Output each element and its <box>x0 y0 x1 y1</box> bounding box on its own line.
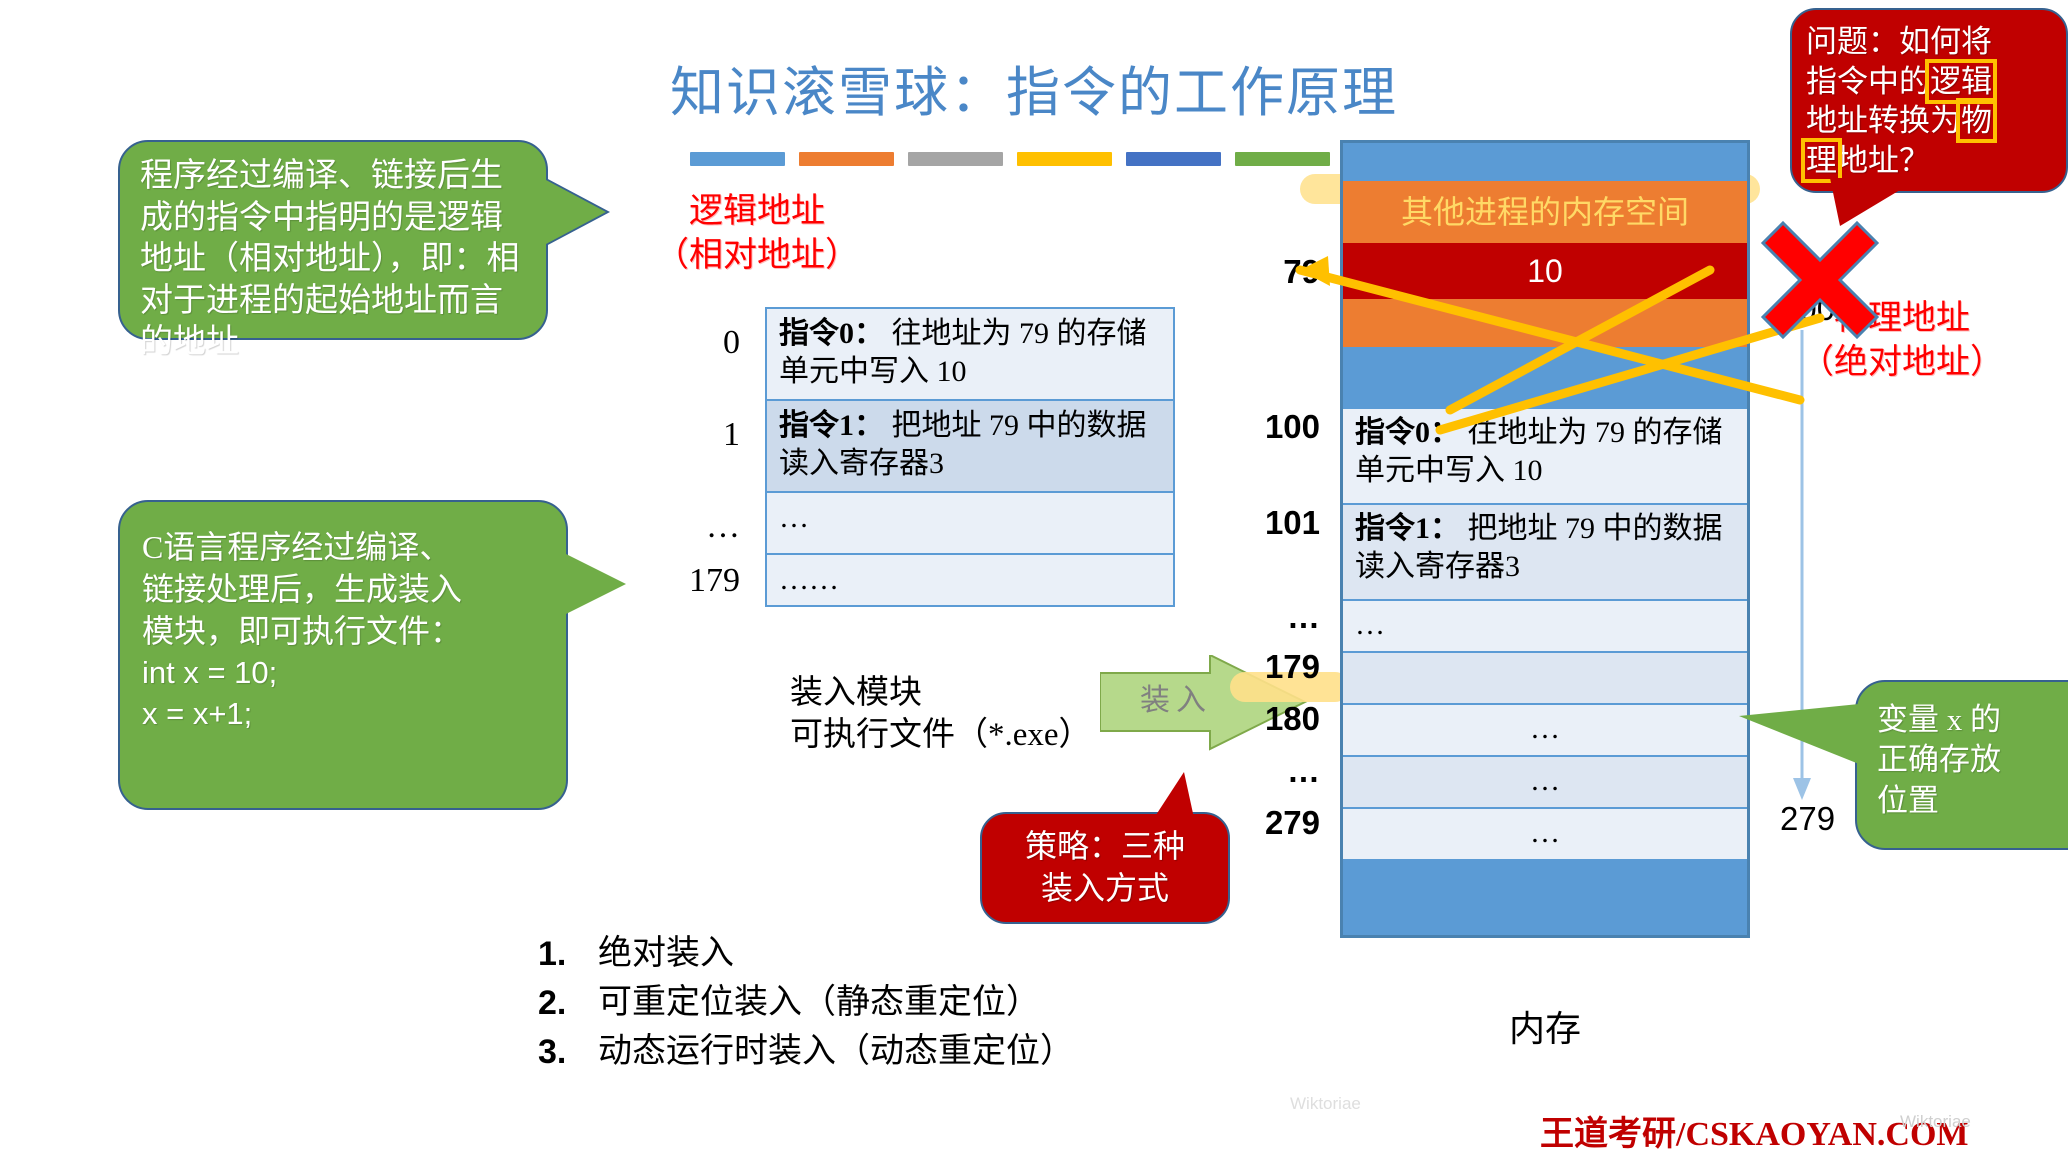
list-item-3-text: 动态运行时装入（动态重定位） <box>598 1028 1074 1077</box>
memory-row-ellipsis-1-text: … <box>1355 608 1385 641</box>
instruction-row-1-bold: 指令1： <box>779 409 884 442</box>
strategy-line2: 装入方式 <box>996 868 1214 910</box>
title-bar-3 <box>908 152 1003 166</box>
callout-c-program-line1: C语言程序经过编译、 <box>142 526 544 568</box>
memory-row-blue-top <box>1343 143 1747 181</box>
callout-variable-x: 变量 x 的 正确存放 位置 <box>1855 680 2068 850</box>
list-item-1-num: 1. <box>538 930 576 979</box>
list-item: 1. 绝对装入 <box>538 930 1074 979</box>
list-item-2-num: 2. <box>538 979 576 1028</box>
variable-x-line3: 位置 <box>1877 781 2068 821</box>
memory-row-180-text: … <box>1530 712 1560 745</box>
load-module-label: 装入模块 可执行文件（*.exe） <box>790 672 1092 756</box>
instruction-address-column: 0 1 … 179 <box>670 310 740 610</box>
title-bar-1 <box>690 152 785 166</box>
callout-c-program-line3: 模块，即可执行文件： <box>142 610 544 652</box>
memory-row-101-bold: 指令1： <box>1355 512 1460 545</box>
instruction-row-3: …… <box>767 555 1173 605</box>
question-line4: 理地址？ <box>1806 141 2052 181</box>
question-highlight-physical-2: 理 <box>1806 143 1837 178</box>
memory-row-ellipsis-2: … <box>1343 757 1747 809</box>
instruction-row-0: 指令0： 往地址为 79 的存储单元中写入 10 <box>767 309 1173 401</box>
callout-question: 问题：如何将 指令中的逻辑 地址转换为物 理地址？ <box>1790 8 2068 193</box>
page-title: 知识滚雪球：指令的工作原理 <box>0 48 2068 127</box>
memory-row-101: 指令1： 把地址 79 中的数据读入寄存器3 <box>1343 505 1747 601</box>
mem-span-end-279: 279 <box>1780 800 1835 838</box>
loading-methods-list: 1. 绝对装入 2. 可重定位装入（静态重定位） 3. 动态运行时装入（动态重定… <box>538 930 1074 1077</box>
variable-x-line1: 变量 x 的 <box>1877 700 2068 740</box>
question-line3-a: 地址转换为 <box>1806 103 1961 138</box>
question-line3: 地址转换为物 <box>1806 101 2052 141</box>
watermark-small: Wiktoriae <box>1900 1112 1971 1132</box>
mem-addr-dots-2: … <box>1230 752 1320 790</box>
memory-row-279: … <box>1343 809 1747 861</box>
question-line2-a: 指令中的 <box>1806 64 1930 99</box>
variable-x-line2: 正确存放 <box>1877 740 2068 780</box>
memory-row-279-text: … <box>1530 816 1560 849</box>
mem-addr-180: 180 <box>1230 700 1320 738</box>
instruction-row-1: 指令1： 把地址 79 中的数据读入寄存器3 <box>767 401 1173 493</box>
list-item-2-text: 可重定位装入（静态重定位） <box>598 979 1040 1028</box>
instr-addr-0: 0 <box>670 324 740 362</box>
logical-address-label: 逻辑地址 （相对地址） <box>655 190 859 277</box>
question-line1: 问题：如何将 <box>1806 22 2052 62</box>
memory-label: 内存 <box>1340 1000 1750 1052</box>
memory-other-process-label: 其他进程的内存空间 <box>1401 192 1689 233</box>
strategy-line1: 策略：三种 <box>996 826 1214 868</box>
list-item-3-num: 3. <box>538 1028 576 1077</box>
memory-row-blue-bottom <box>1343 861 1747 935</box>
list-item: 3. 动态运行时装入（动态重定位） <box>538 1028 1074 1077</box>
load-module-line2: 可执行文件（*.exe） <box>790 714 1092 756</box>
memory-row-ellipsis-1: … <box>1343 601 1747 653</box>
mem-addr-179: 179 <box>1230 648 1320 686</box>
list-item: 2. 可重定位装入（静态重定位） <box>538 979 1074 1028</box>
instr-addr-1: 1 <box>670 416 740 454</box>
red-cross-icon <box>1755 215 1885 345</box>
mem-addr-101: 101 <box>1230 504 1320 542</box>
instruction-row-2-rest: … <box>779 501 809 534</box>
callout-compile-link: 程序经过编译、链接后生成的指令中指明的是逻辑地址（相对地址），即：相对于进程的起… <box>118 140 548 340</box>
memory-row-ellipsis-2-text: … <box>1530 764 1560 797</box>
logical-address-line2: （相对地址） <box>655 234 859 278</box>
mem-addr-dots-1: … <box>1230 598 1320 636</box>
callout-c-program-code1: int x = 10; <box>142 653 544 694</box>
callout-compile-link-text: 程序经过编译、链接后生成的指令中指明的是逻辑地址（相对地址），即：相对于进程的起… <box>140 158 520 360</box>
physical-address-line2: （绝对地址） <box>1800 341 2004 385</box>
instr-addr-3: 179 <box>670 562 740 600</box>
instruction-table: 指令0： 往地址为 79 的存储单元中写入 10 指令1： 把地址 79 中的数… <box>765 307 1175 607</box>
logical-address-line1: 逻辑地址 <box>655 190 859 234</box>
question-highlight-logical: 逻辑 <box>1930 64 1992 99</box>
instruction-row-0-bold: 指令0： <box>779 317 884 350</box>
title-bar-4 <box>1017 152 1112 166</box>
question-line4-b: 地址？ <box>1837 143 1930 178</box>
load-module-line1: 装入模块 <box>790 672 1092 714</box>
instruction-row-3-rest: …… <box>779 563 839 596</box>
callout-c-program-code2: x = x+1; <box>142 694 544 735</box>
title-bar-2 <box>799 152 894 166</box>
instruction-row-2: … <box>767 493 1173 555</box>
memory-row-180: … <box>1343 705 1747 757</box>
callout-c-program: C语言程序经过编译、 链接处理后，生成装入 模块，即可执行文件： int x =… <box>118 500 568 810</box>
memory-row-179 <box>1343 653 1747 705</box>
list-item-1-text: 绝对装入 <box>598 930 734 979</box>
instr-addr-2: … <box>670 508 740 546</box>
question-line2: 指令中的逻辑 <box>1806 62 2052 102</box>
callout-strategy: 策略：三种 装入方式 <box>980 812 1230 924</box>
question-highlight-physical-1: 物 <box>1961 103 1992 138</box>
mem-addr-279: 279 <box>1230 804 1320 842</box>
watermark-small-2: Wiktoriae <box>1290 1094 1361 1114</box>
callout-c-program-line2: 链接处理后，生成装入 <box>142 568 544 610</box>
